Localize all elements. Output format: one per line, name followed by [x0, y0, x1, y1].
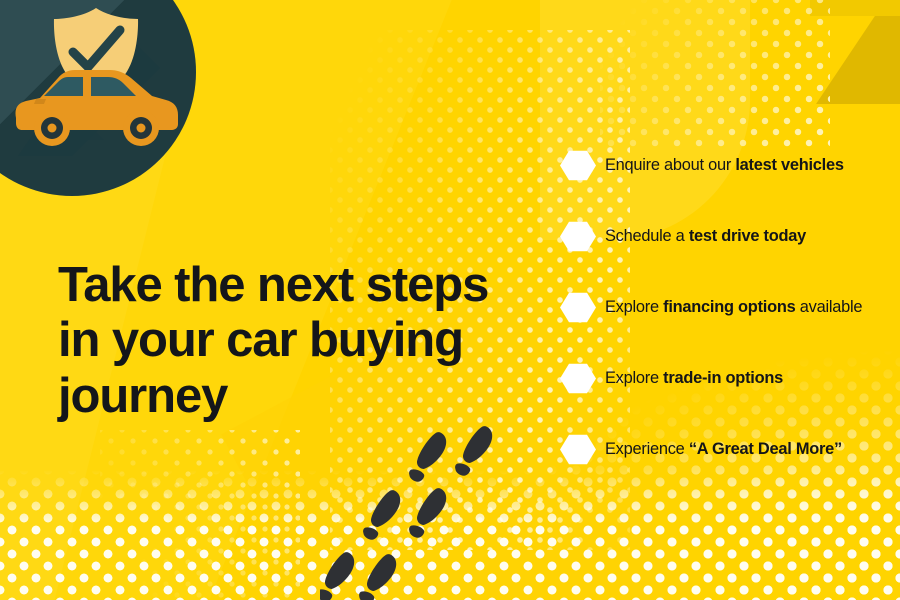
list-item[interactable]: Experience “A Great Deal More”	[560, 414, 895, 485]
hexagon-bullet-icon	[560, 434, 596, 466]
hexagon-bullet-icon	[560, 292, 596, 324]
headline-line-2: in your car buying	[58, 313, 528, 368]
promo-banner: Take the next steps in your car buying j…	[0, 0, 900, 600]
list-item[interactable]: Schedule a test drive today	[560, 201, 895, 272]
gold-corner-strip	[810, 0, 900, 16]
benefits-list: Enquire about our latest vehicles Schedu…	[560, 130, 895, 485]
car-insurance-badge	[0, 0, 196, 196]
hexagon-bullet-icon	[560, 150, 596, 182]
hexagon-bullet-icon	[560, 221, 596, 253]
footprints-icon	[320, 400, 590, 600]
list-item-label: Experience “A Great Deal More”	[605, 440, 842, 459]
list-item[interactable]: Enquire about our latest vehicles	[560, 130, 895, 201]
hexagon-bullet-icon	[560, 363, 596, 395]
list-item[interactable]: Explore financing options available	[560, 272, 895, 343]
list-item-label: Explore trade-in options	[605, 369, 783, 388]
list-item[interactable]: Explore trade-in options	[560, 343, 895, 414]
list-item-label: Schedule a test drive today	[605, 227, 806, 246]
headline-line-1: Take the next steps	[58, 258, 528, 313]
list-item-label: Enquire about our latest vehicles	[605, 156, 844, 175]
list-item-label: Explore financing options available	[605, 298, 862, 317]
car-shield-logo-icon	[0, 0, 190, 170]
